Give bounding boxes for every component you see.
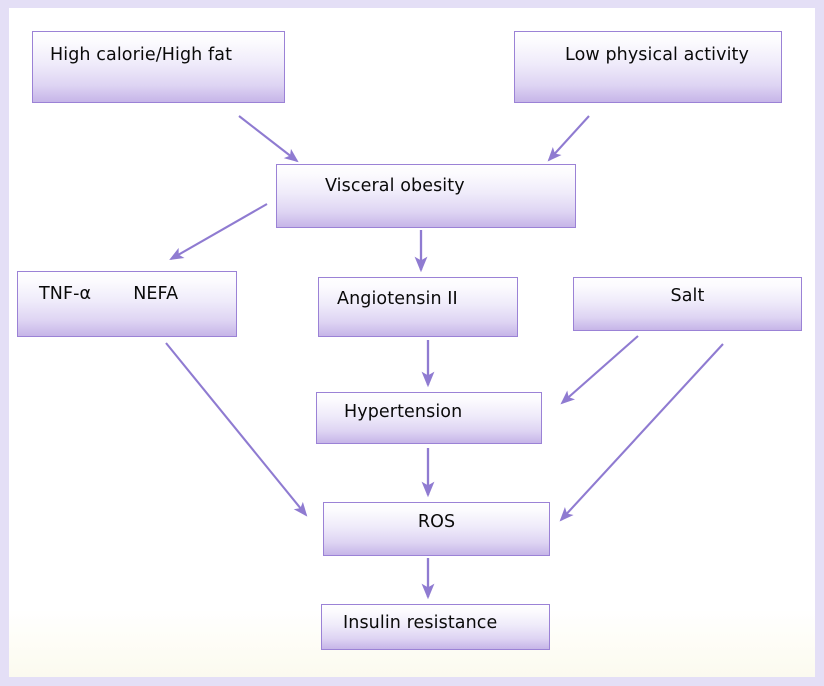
- node-salt[interactable]: Salt: [573, 277, 802, 331]
- node-label: Hypertension: [344, 402, 462, 422]
- node-hypertension[interactable]: Hypertension: [316, 392, 542, 444]
- edge-tnf-nefa-to-ros: [166, 343, 306, 515]
- edge-visceral-obesity-to-tnf-nefa: [171, 204, 267, 259]
- node-label-nefa: NEFA: [133, 284, 178, 304]
- diagram-canvas: High calorie/High fat Low physical activ…: [9, 8, 815, 677]
- arrow-layer: [9, 8, 815, 677]
- node-tnf-nefa[interactable]: TNF-α NEFA: [17, 271, 237, 337]
- edge-salt-to-ros: [561, 344, 723, 520]
- node-label: Low physical activity: [565, 45, 749, 65]
- edge-low-activity-to-visceral-obesity: [549, 116, 589, 160]
- node-label: Insulin resistance: [343, 613, 497, 633]
- node-label: Angiotensin II: [337, 289, 458, 309]
- edge-salt-to-hypertension: [562, 336, 638, 403]
- node-high-calorie[interactable]: High calorie/High fat: [32, 31, 285, 103]
- node-label-tnf-alpha: TNF-α: [39, 284, 91, 304]
- node-ros[interactable]: ROS: [323, 502, 550, 556]
- node-low-activity[interactable]: Low physical activity: [514, 31, 782, 103]
- edge-high-calorie-to-visceral-obesity: [239, 116, 297, 161]
- node-label: ROS: [418, 512, 455, 532]
- node-angiotensin-ii[interactable]: Angiotensin II: [318, 277, 518, 337]
- node-label: Visceral obesity: [325, 176, 465, 196]
- node-label: Salt: [671, 286, 705, 306]
- node-insulin-resistance[interactable]: Insulin resistance: [321, 604, 550, 650]
- node-visceral-obesity[interactable]: Visceral obesity: [276, 164, 576, 228]
- node-label: High calorie/High fat: [50, 45, 232, 65]
